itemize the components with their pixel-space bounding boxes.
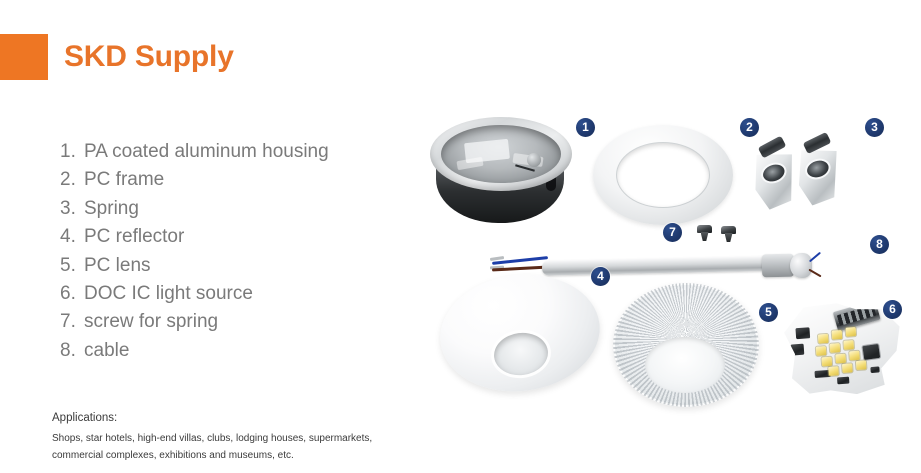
list-item: 6. DOC IC light source <box>60 280 390 308</box>
list-item-label: PA coated aluminum housing <box>84 138 329 166</box>
housing-mounting-post <box>527 153 541 167</box>
part-image-pc-reflector <box>440 275 600 391</box>
screw <box>721 226 736 242</box>
badge-8: 8 <box>870 235 889 254</box>
list-item-number: 2. <box>60 166 84 194</box>
part-image-led-board <box>783 303 903 399</box>
list-item-number: 3. <box>60 195 84 223</box>
product-exploded-diagram: 1 2 3 7 <box>400 95 921 415</box>
led-chip <box>818 334 829 344</box>
part-image-aluminum-housing <box>430 117 572 229</box>
led-chip <box>816 346 827 356</box>
board-component <box>837 377 849 385</box>
list-item-number: 5. <box>60 252 84 280</box>
list-item-label: PC frame <box>84 166 164 194</box>
parts-list: 1. PA coated aluminum housing 2. PC fram… <box>60 138 390 365</box>
led-chip <box>842 363 853 373</box>
screw-shaft <box>725 233 733 242</box>
led-chip <box>856 360 867 370</box>
led-chip <box>828 366 839 376</box>
list-item: 1. PA coated aluminum housing <box>60 138 390 166</box>
badge-5: 5 <box>759 303 778 322</box>
led-chip <box>822 357 833 367</box>
list-item-label: DOC IC light source <box>84 280 253 308</box>
badge-7: 7 <box>663 223 682 242</box>
lens-center <box>645 337 725 393</box>
part-image-pc-frame <box>593 125 733 225</box>
list-item: 7. screw for spring <box>60 308 390 336</box>
board-ic-chip <box>862 344 880 360</box>
list-item-label: PC reflector <box>84 223 184 251</box>
list-item-number: 7. <box>60 308 84 336</box>
list-item-label: Spring <box>84 195 139 223</box>
board-component <box>870 366 879 373</box>
lens-bowl <box>613 283 759 407</box>
badge-3: 3 <box>865 118 884 137</box>
list-item-label: PC lens <box>84 252 151 280</box>
applications-line: Shops, star hotels, high-end villas, clu… <box>52 430 382 447</box>
badge-6: 6 <box>883 300 902 319</box>
list-item: 4. PC reflector <box>60 223 390 251</box>
screw-head <box>721 226 736 234</box>
part-image-spring-clips <box>752 135 862 215</box>
housing-cavity <box>441 125 561 183</box>
led-chip <box>830 343 841 353</box>
list-item: 3. Spring <box>60 195 390 223</box>
list-item: 2. PC frame <box>60 166 390 194</box>
led-chip <box>843 340 854 350</box>
part-image-pc-lens <box>613 283 759 407</box>
cable-end-cap <box>790 253 812 278</box>
spring-clip <box>748 137 799 213</box>
screw <box>697 225 712 241</box>
list-item-number: 4. <box>60 223 84 251</box>
list-item-number: 1. <box>60 138 84 166</box>
list-item-number: 6. <box>60 280 84 308</box>
list-item-label: screw for spring <box>84 308 218 336</box>
board-connector <box>833 300 881 331</box>
header-accent-block <box>0 34 48 80</box>
led-chip <box>849 351 860 361</box>
led-chip <box>832 330 843 340</box>
list-item: 5. PC lens <box>60 252 390 280</box>
badge-4: 4 <box>591 267 610 286</box>
screw-head <box>697 225 712 233</box>
applications-line: commercial complexes, exhibitions and mu… <box>52 447 382 464</box>
board-component <box>795 327 810 339</box>
screw-shaft <box>701 232 709 241</box>
list-item-number: 8. <box>60 337 84 365</box>
applications-heading: Applications: <box>52 412 382 424</box>
cable-sleeve <box>542 255 790 275</box>
frame-ring-inner <box>617 143 709 207</box>
board-component <box>791 344 805 356</box>
list-item: 8. cable <box>60 337 390 365</box>
list-item-label: cable <box>84 337 129 365</box>
page-title: SKD Supply <box>64 36 234 78</box>
housing-internal-rib <box>456 157 483 170</box>
applications-block: Applications: Shops, star hotels, high-e… <box>52 412 382 464</box>
spring-clip <box>794 134 843 209</box>
part-image-screws <box>697 223 749 245</box>
led-chip <box>846 327 857 337</box>
led-chip <box>835 354 846 364</box>
